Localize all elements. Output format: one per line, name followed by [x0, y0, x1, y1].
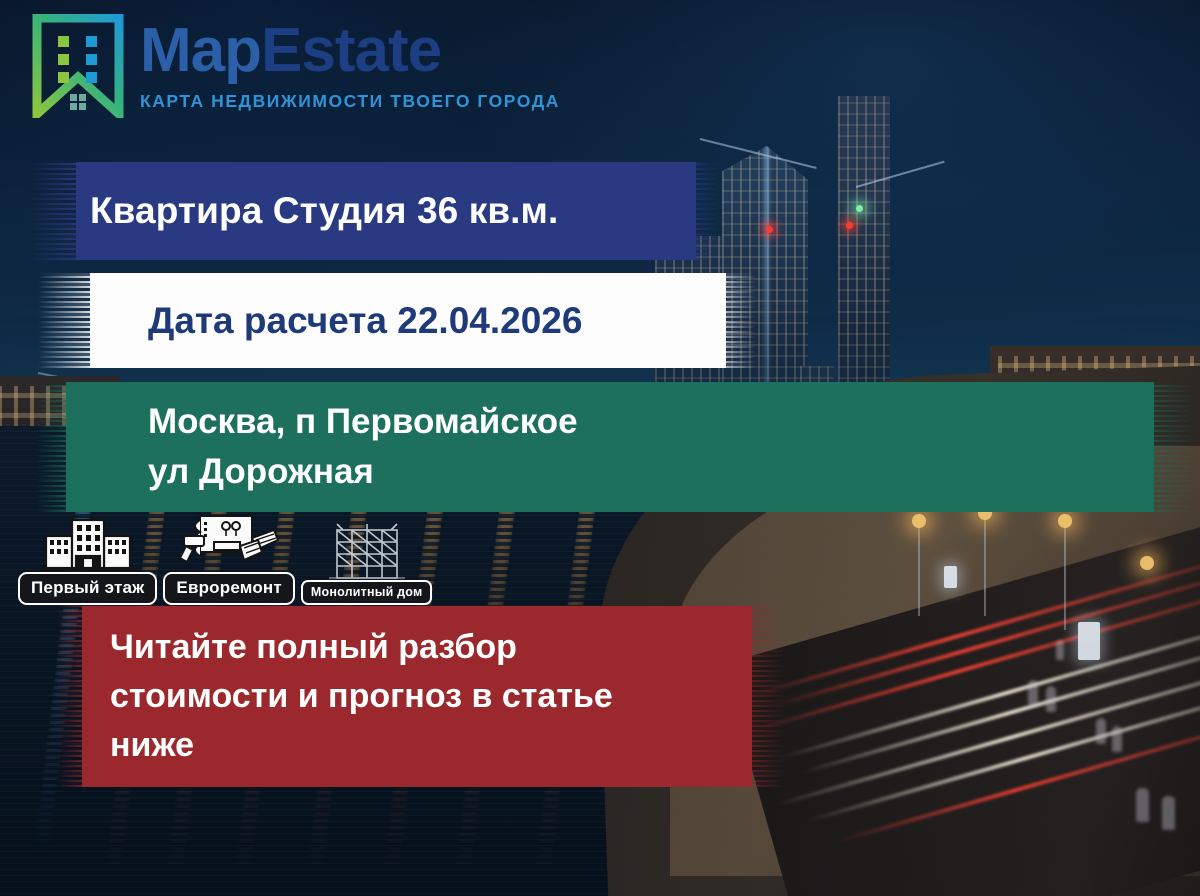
- bookmark-building-icon: [30, 14, 126, 118]
- apartment-building-icon: [36, 512, 140, 576]
- badge-label: Монолитный дом: [301, 580, 433, 605]
- brand-name-estate: Estate: [261, 16, 441, 85]
- location-line-2: ул Дорожная: [148, 447, 578, 497]
- brand-tagline: КАРТА НЕДВИЖИМОСТИ ТВОЕГО ГОРОДА: [140, 91, 560, 112]
- callout-line-3: ниже: [110, 721, 613, 770]
- scaffolding-construction-icon: [315, 520, 419, 584]
- brush-edge-right: [714, 606, 786, 787]
- badge-euro-renovation[interactable]: Евроремонт: [163, 512, 295, 605]
- date-banner: Дата расчета 22.04.2026: [38, 273, 756, 368]
- callout-banner: Читайте полный разбор стоимости и прогно…: [56, 606, 786, 787]
- brand-name-map: Map: [140, 16, 261, 85]
- badge-first-floor[interactable]: Первый этаж: [18, 512, 157, 605]
- brush-edge-right: [704, 273, 756, 368]
- brand-wordmark: MapEstate КАРТА НЕДВИЖИМОСТИ ТВОЕГО ГОРО…: [140, 20, 560, 112]
- brush-edge-right: [678, 162, 718, 260]
- badge-monolithic-house[interactable]: Монолитный дом: [301, 520, 433, 605]
- location-line-1: Москва, п Первомайское: [148, 397, 578, 447]
- brush-edge-right: [1108, 382, 1194, 512]
- property-title: Квартира Студия 36 кв.м.: [28, 190, 558, 232]
- callout-text: Читайте полный разбор стоимости и прогно…: [56, 623, 633, 770]
- calculation-date: Дата расчета 22.04.2026: [38, 300, 582, 342]
- callout-line-2: стоимости и прогноз в статье: [110, 672, 613, 721]
- location-banner: Москва, п Первомайское ул Дорожная: [36, 382, 1194, 512]
- property-banner: Квартира Студия 36 кв.м.: [28, 162, 718, 260]
- renovation-tools-icon: [170, 512, 288, 576]
- badge-label: Первый этаж: [18, 572, 157, 605]
- promo-poster: MapEstate КАРТА НЕДВИЖИМОСТИ ТВОЕГО ГОРО…: [0, 0, 1200, 896]
- badge-label: Евроремонт: [163, 572, 295, 605]
- brand-logo[interactable]: MapEstate КАРТА НЕДВИЖИМОСТИ ТВОЕГО ГОРО…: [30, 14, 560, 118]
- callout-line-1: Читайте полный разбор: [110, 623, 613, 672]
- feature-badges: Первый этаж: [18, 512, 432, 605]
- location-text: Москва, п Первомайское ул Дорожная: [36, 397, 578, 498]
